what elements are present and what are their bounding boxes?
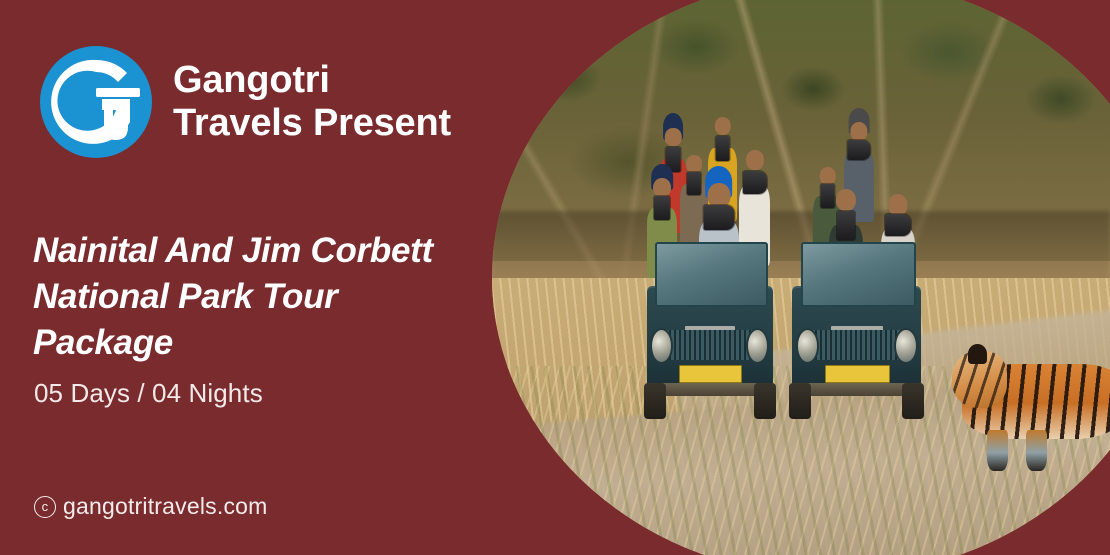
person-head [686,155,702,172]
license-plate [679,365,742,383]
person-head [746,150,764,170]
jeep-wheel [754,383,776,419]
headlamp-icon [650,328,673,364]
person-head [653,178,671,198]
person-head [819,167,835,185]
copyright-icon: c [34,496,56,518]
jeep-grille [810,330,903,360]
camera-telephoto-icon [848,140,871,160]
jeep-windshield [655,242,768,306]
tiger-ear [968,344,987,364]
license-plate [825,365,889,383]
brand-name: Gangotri Travels Present [173,59,451,144]
jeep-grille [664,330,755,360]
promo-banner: Gangotri Travels Present Nainital And Ji… [0,0,1110,555]
footer: c gangotritravels.com [34,493,268,520]
jeep-wheel [789,383,811,419]
safari-jeep [647,211,774,389]
gangotri-logo-icon [38,44,154,160]
headlamp-icon [746,328,769,364]
photo-canvas [492,0,1110,555]
person-head [850,122,867,141]
tour-duration: 05 Days / 04 Nights [34,378,263,409]
person-head [836,189,856,211]
safari-photo [492,0,1110,555]
bengal-tiger [962,344,1110,466]
jeep-windshield [801,242,917,306]
tiger-leg [1026,430,1047,472]
brand-lockup: Gangotri Travels Present [38,44,451,160]
jeep-wheel [644,383,666,419]
person-head [665,128,681,146]
headlamp-icon [796,328,819,364]
person-head [714,117,730,135]
headlamp-icon [894,328,917,364]
jeep-wheel [902,383,924,419]
safari-jeep [792,211,922,389]
camera-phone-icon [715,136,730,161]
website-url[interactable]: gangotritravels.com [63,493,268,520]
page-title: Nainital And Jim Corbett National Park T… [33,228,483,367]
camera-dslr-icon [743,171,767,194]
tiger-leg [987,430,1008,472]
